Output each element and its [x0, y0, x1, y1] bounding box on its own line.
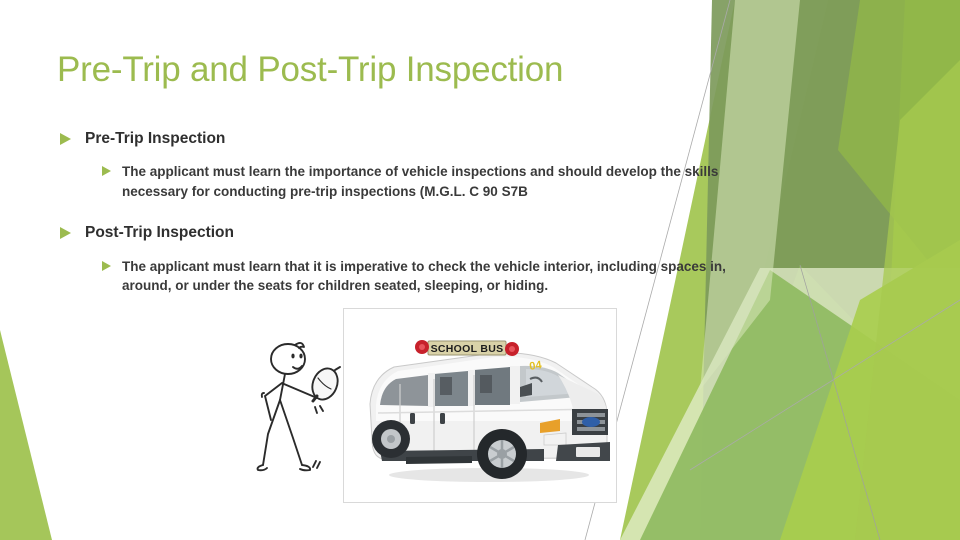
- slide-title: Pre-Trip and Post-Trip Inspection: [57, 50, 563, 90]
- stick-figure-foot-front: [300, 465, 310, 470]
- stick-figure-leg-front: [280, 400, 302, 465]
- van-ford-emblem: [582, 417, 600, 427]
- deco-shape-2: [700, 0, 960, 540]
- stick-figure-eye-right: [299, 354, 302, 359]
- van-interior-seat-2: [480, 375, 492, 393]
- deco-hairline-3: [800, 265, 880, 540]
- stick-figure-leg-back: [263, 400, 280, 465]
- stick-figure-torso: [280, 374, 285, 400]
- slide-body: Pre-Trip Inspection The applicant must l…: [57, 128, 737, 302]
- stick-figure-eye-left: [291, 354, 294, 359]
- triangle-bullet-icon: [60, 133, 71, 145]
- magnifying-glass-bottom-ticks: [315, 406, 323, 413]
- deco-shape-9: [855, 60, 960, 540]
- deco-shape-6: [620, 268, 960, 540]
- van-running-board: [406, 456, 472, 464]
- bullet-detail-pre-trip: The applicant must learn the importance …: [57, 162, 737, 202]
- presentation-slide: Pre-Trip and Post-Trip Inspection Pre-Tr…: [0, 0, 960, 540]
- stick-figure-foot-back: [258, 465, 267, 470]
- bullet-heading-label: Pre-Trip Inspection: [85, 130, 225, 147]
- van-interior-seat-1: [440, 377, 452, 395]
- triangle-sub-bullet-icon: [102, 166, 111, 176]
- deco-shape-8: [780, 240, 960, 540]
- bullet-heading-pre-trip: Pre-Trip Inspection: [57, 128, 737, 150]
- detective-stick-figure: [255, 334, 350, 489]
- stick-figure-motion-marks: [313, 461, 320, 468]
- bullet-detail-label: The applicant must learn that it is impe…: [122, 259, 726, 294]
- school-bus-sign-text: SCHOOL BUS: [431, 343, 504, 355]
- van-pillar-3: [510, 366, 520, 404]
- bullet-heading-post-trip: Post-Trip Inspection: [57, 222, 737, 244]
- stick-figure-hand-left: [262, 393, 264, 397]
- bullet-detail-label: The applicant must learn the importance …: [122, 164, 718, 199]
- deco-shape-4: [838, 0, 960, 300]
- van-headlight: [544, 433, 566, 445]
- triangle-bullet-icon: [60, 227, 71, 239]
- van-grille-bar-1: [577, 413, 605, 417]
- van-wheel-rear-hub: [387, 435, 395, 443]
- deco-shape-5: [700, 265, 960, 540]
- deco-shape-7: [640, 270, 960, 540]
- school-bus-lamp-right-inner: [509, 346, 515, 352]
- stick-figure-head: [271, 344, 305, 374]
- bullet-detail-post-trip: The applicant must learn that it is impe…: [57, 257, 737, 297]
- van-license-plate: [576, 447, 600, 457]
- magnifying-glass-top-tick: [335, 367, 340, 370]
- magnifying-glass-lens: [308, 365, 342, 404]
- school-bus-van-photo: SCHOOL BUS 04: [343, 308, 617, 503]
- deco-hairline-2: [690, 300, 960, 470]
- bullet-heading-label: Post-Trip Inspection: [85, 224, 234, 241]
- deco-left-wedge: [0, 330, 52, 540]
- school-bus-lamp-left-inner: [419, 344, 425, 350]
- van-door-handle-1: [410, 413, 415, 424]
- triangle-sub-bullet-icon: [102, 261, 111, 271]
- van-door-handle-2: [440, 413, 445, 424]
- van-grille-bar-3: [577, 427, 605, 431]
